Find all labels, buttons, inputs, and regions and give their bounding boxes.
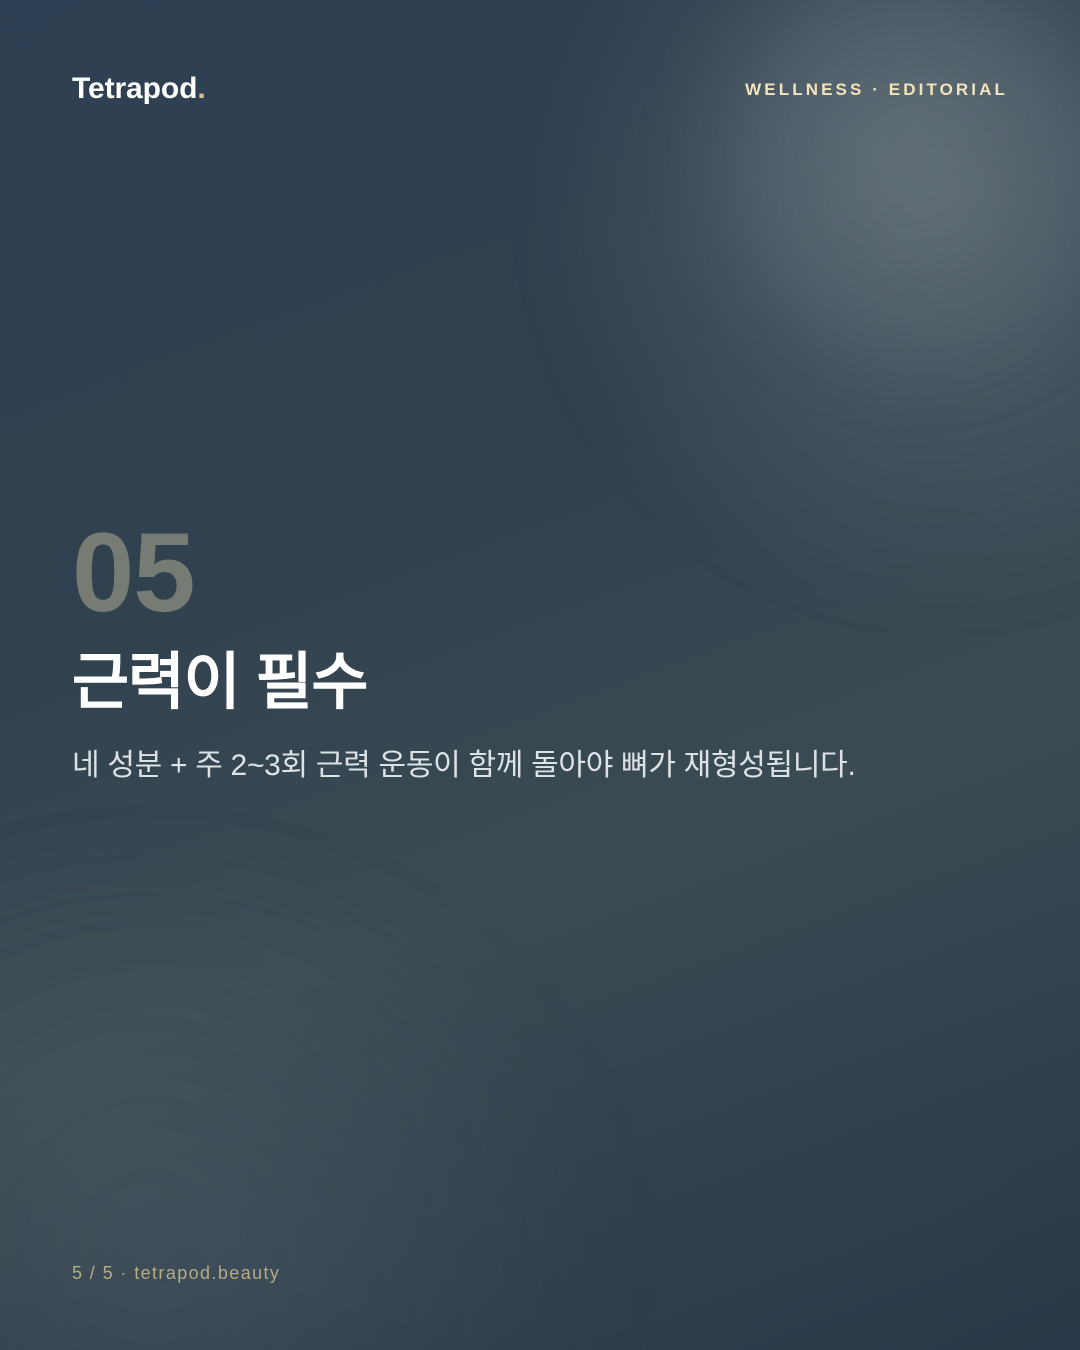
- slide-main-content: 05 근력이 필수 네 성분 + 주 2~3회 근력 운동이 함께 돌아야 뼈가…: [72, 520, 1008, 787]
- footer-caption: 5 / 5 · tetrapod.beauty: [72, 1264, 280, 1282]
- section-number: 05: [72, 520, 1008, 626]
- brand-logo: Tetrapod.: [72, 74, 206, 104]
- page-title: 근력이 필수: [72, 648, 1008, 717]
- brand-logo-dot: .: [197, 72, 205, 105]
- page-subtitle: 네 성분 + 주 2~3회 근력 운동이 함께 돌아야 뼈가 재형성됩니다.: [72, 744, 1008, 788]
- category-eyebrow: WELLNESS · EDITORIAL: [745, 81, 1008, 98]
- background-glow-top-right-core: [700, 0, 1080, 380]
- editorial-slide: Tetrapod. WELLNESS · EDITORIAL 05 근력이 필수…: [0, 0, 1080, 1350]
- brand-logo-name: Tetrapod: [72, 72, 197, 105]
- slide-header: Tetrapod. WELLNESS · EDITORIAL: [72, 74, 1008, 104]
